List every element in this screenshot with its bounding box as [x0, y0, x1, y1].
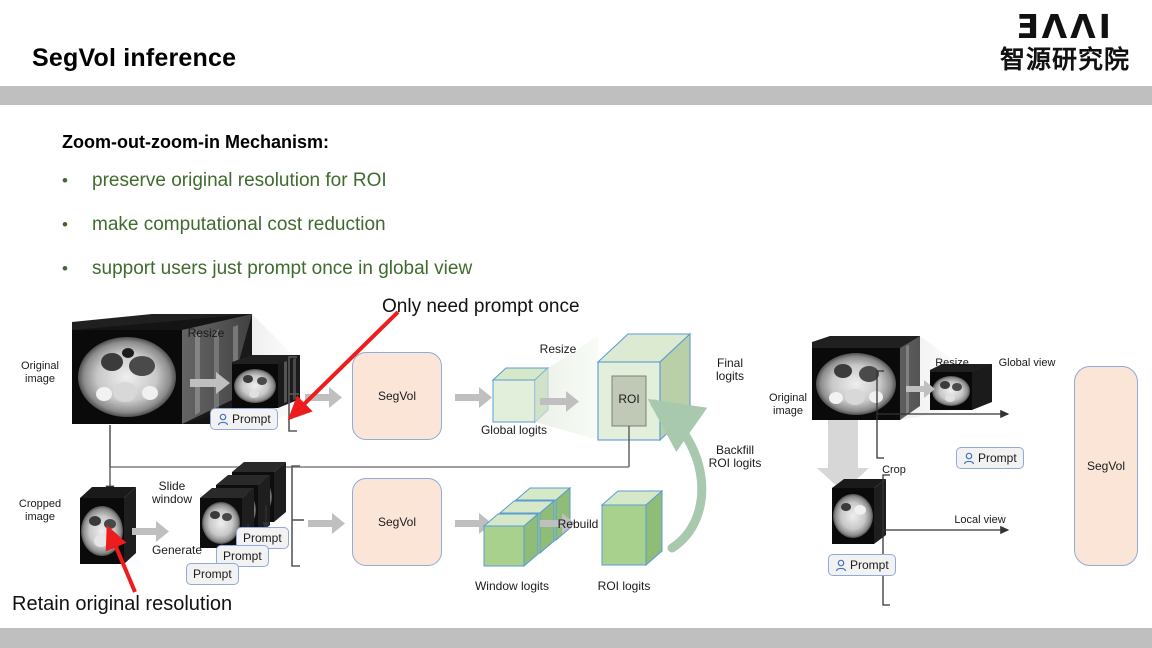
segvol-out-arrow-top [455, 387, 492, 408]
label-backfill-roi-logits: Backfill ROI logits [698, 444, 772, 470]
prompt-button-label: Prompt [193, 567, 232, 581]
red-arrow-bottom [108, 528, 135, 592]
final-logits-cube [598, 334, 690, 440]
label-original-image-right: Original image [760, 392, 816, 418]
prompt-button-label: Prompt [978, 451, 1017, 465]
header-divider-band [0, 86, 1152, 105]
label-slide-window: Slide window [146, 480, 198, 506]
slide-canvas: SegVol inference ƎΛΛI 智源研究院 Zoom-out-zoo… [0, 0, 1152, 648]
person-icon [835, 559, 847, 572]
local-view-bracket [883, 475, 890, 605]
label-rebuild: Rebuild [548, 518, 608, 531]
label-crop: Crop [874, 464, 914, 477]
roi-logits-cube [602, 491, 662, 565]
prompt-button-window-3[interactable]: Prompt [186, 563, 239, 585]
label-global-view: Global view [992, 357, 1062, 370]
resize-arrow-green [540, 391, 579, 412]
resized-cube-left [232, 355, 300, 408]
label-local-view: Local view [944, 514, 1016, 527]
list-item: • preserve original resolution for ROI [62, 168, 702, 194]
segvol-box-right-label: SegVol [1087, 459, 1125, 473]
global-logits-cube [493, 368, 548, 422]
prompt-button-global[interactable]: Prompt [210, 408, 278, 430]
baai-logo: ƎΛΛI 智源研究院 [1000, 10, 1130, 72]
bullet-icon: • [62, 212, 92, 238]
segvol-box-top-label: SegVol [378, 389, 416, 403]
label-original-image-left: Original image [8, 360, 72, 386]
prompt-button-label: Prompt [232, 412, 271, 426]
prompt-button-global-right[interactable]: Prompt [956, 447, 1024, 469]
segvol-box-top[interactable]: SegVol [352, 352, 442, 440]
baai-logo-chinese: 智源研究院 [1000, 47, 1130, 72]
cropped-image-cube [80, 487, 136, 564]
bullet-icon: • [62, 168, 92, 194]
person-icon [217, 413, 229, 426]
label-resize-right: Resize [930, 357, 974, 370]
page-title: SegVol inference [32, 44, 236, 73]
person-icon [963, 452, 975, 465]
list-item: • make computational cost reduction [62, 212, 702, 238]
list-item: • support users just prompt once in glob… [62, 256, 702, 282]
prompt-button-local-right[interactable]: Prompt [828, 554, 896, 576]
resized-cube-right [930, 364, 992, 410]
footer-band [0, 628, 1152, 648]
label-cropped-image: Cropped image [8, 498, 72, 524]
backfill-curve [655, 404, 702, 548]
segvol-box-bottom-label: SegVol [378, 515, 416, 529]
label-roi-logits: ROI logits [582, 580, 666, 593]
slide-window-arrow [132, 521, 169, 542]
section-subtitle: Zoom-out-zoom-in Mechanism: [62, 132, 329, 153]
annotation-bottom: Retain original resolution [12, 593, 232, 616]
label-final-logits: Final logits [700, 357, 760, 383]
bullet-icon: • [62, 256, 92, 282]
group-bracket-top [289, 357, 297, 431]
label-window-logits: Window logits [462, 580, 562, 593]
crop-arrow [817, 420, 869, 492]
label-roi: ROI [612, 393, 646, 406]
label-global-logits: Global logits [466, 424, 562, 437]
group-bracket-bottom [292, 466, 300, 566]
annotation-top: Only need prompt once [382, 296, 580, 318]
segvol-out-arrow-bottom [455, 513, 492, 534]
resize-arrow-left [190, 372, 230, 394]
bullet-text: support users just prompt once in global… [92, 256, 472, 282]
to-segvol-arrow-bottom [308, 513, 345, 534]
label-resize-left: Resize [176, 327, 236, 340]
bullet-text: make computational cost reduction [92, 212, 386, 238]
bullet-list: • preserve original resolution for ROI •… [62, 168, 702, 300]
global-view-bracket [877, 371, 884, 458]
prompt-button-label: Prompt [850, 558, 889, 572]
segvol-box-right[interactable]: SegVol [1074, 366, 1138, 566]
resize-arrow-right [906, 380, 935, 398]
prompt-button-label: Prompt [223, 549, 262, 563]
segvol-box-bottom[interactable]: SegVol [352, 478, 442, 566]
bullet-text: preserve original resolution for ROI [92, 168, 387, 194]
original-image-cube-right [812, 336, 920, 420]
baai-logo-mark: ƎΛΛI [1000, 10, 1130, 43]
to-segvol-arrow-top [305, 387, 342, 408]
label-resize-green: Resize [530, 343, 586, 356]
label-generate: Generate [148, 544, 206, 557]
prompt-button-label: Prompt [243, 531, 282, 545]
resize-fan-right [900, 336, 958, 420]
cropped-cube-right [832, 479, 886, 544]
